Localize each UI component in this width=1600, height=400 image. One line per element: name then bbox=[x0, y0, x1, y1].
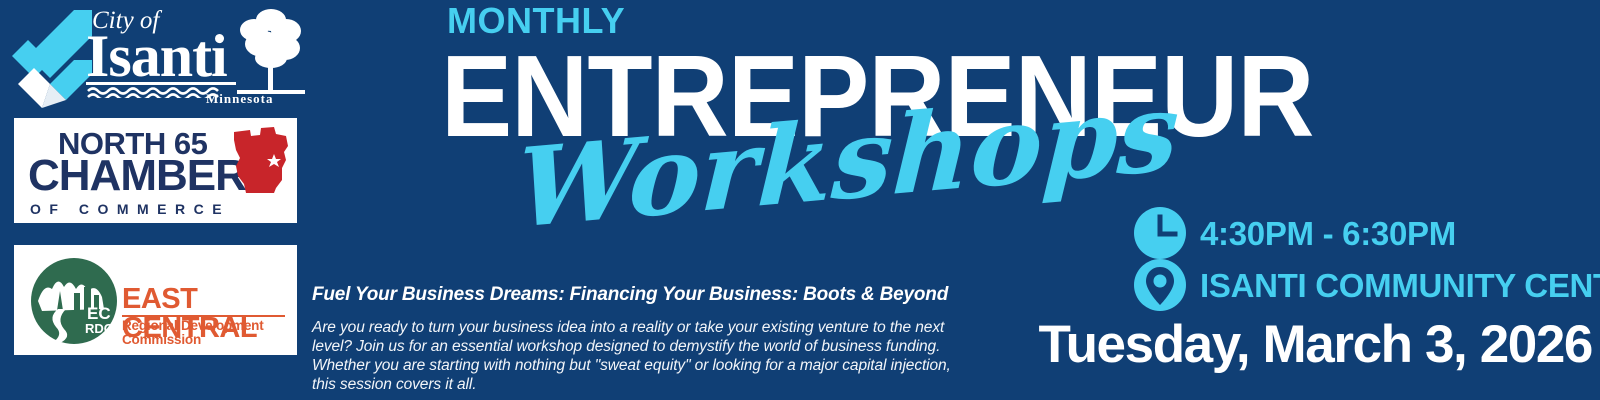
ecrdc-emblem-icon: EC RDC bbox=[30, 257, 118, 345]
event-time-text: 4:30PM - 6:30PM bbox=[1200, 217, 1456, 250]
city-of-isanti-logo: City of Isanti bbox=[4, 2, 304, 114]
isanti-minnesota-text: Minnesota bbox=[206, 92, 274, 105]
chamber-chamber-text: CHAMBER bbox=[28, 154, 246, 198]
description-block: Fuel Your Business Dreams: Financing You… bbox=[312, 284, 962, 394]
description-body: Are you ready to turn your business idea… bbox=[312, 319, 962, 395]
isanti-name-text: Isanti bbox=[86, 26, 227, 86]
north-65-chamber-logo: NORTH 65 CHAMBER OF COMMERCE bbox=[14, 118, 297, 223]
ecrdc-divider bbox=[122, 315, 285, 317]
event-location-text: ISANTI COMMUNITY CENTER bbox=[1200, 269, 1600, 302]
minnesota-state-shape-icon bbox=[230, 126, 292, 194]
map-pin-icon bbox=[1134, 259, 1186, 311]
east-central-rdc-logo: EC RDC EAST CENTRAL Regional Development… bbox=[14, 245, 297, 355]
description-headline: Fuel Your Business Dreams: Financing You… bbox=[312, 284, 962, 307]
ecrdc-subtitle-text: Regional Development Commission bbox=[122, 319, 297, 346]
chamber-of-commerce-text: OF COMMERCE bbox=[30, 202, 230, 216]
event-banner: City of Isanti bbox=[0, 0, 1600, 400]
clock-icon bbox=[1134, 207, 1186, 259]
svg-text:RDC: RDC bbox=[85, 321, 114, 336]
event-time-row: 4:30PM - 6:30PM bbox=[1134, 207, 1600, 259]
event-details: 4:30PM - 6:30PM ISANTI COMMUNITY CENTER bbox=[1134, 207, 1600, 311]
event-date-text: Tuesday, March 3, 2026 bbox=[1039, 318, 1592, 371]
isanti-flutter-mark-icon bbox=[8, 8, 92, 112]
event-location-row: ISANTI COMMUNITY CENTER bbox=[1134, 259, 1600, 311]
sponsor-logo-column: City of Isanti bbox=[0, 0, 310, 400]
isanti-wordmark: City of Isanti bbox=[84, 4, 309, 112]
isanti-tree-icon bbox=[231, 6, 309, 102]
